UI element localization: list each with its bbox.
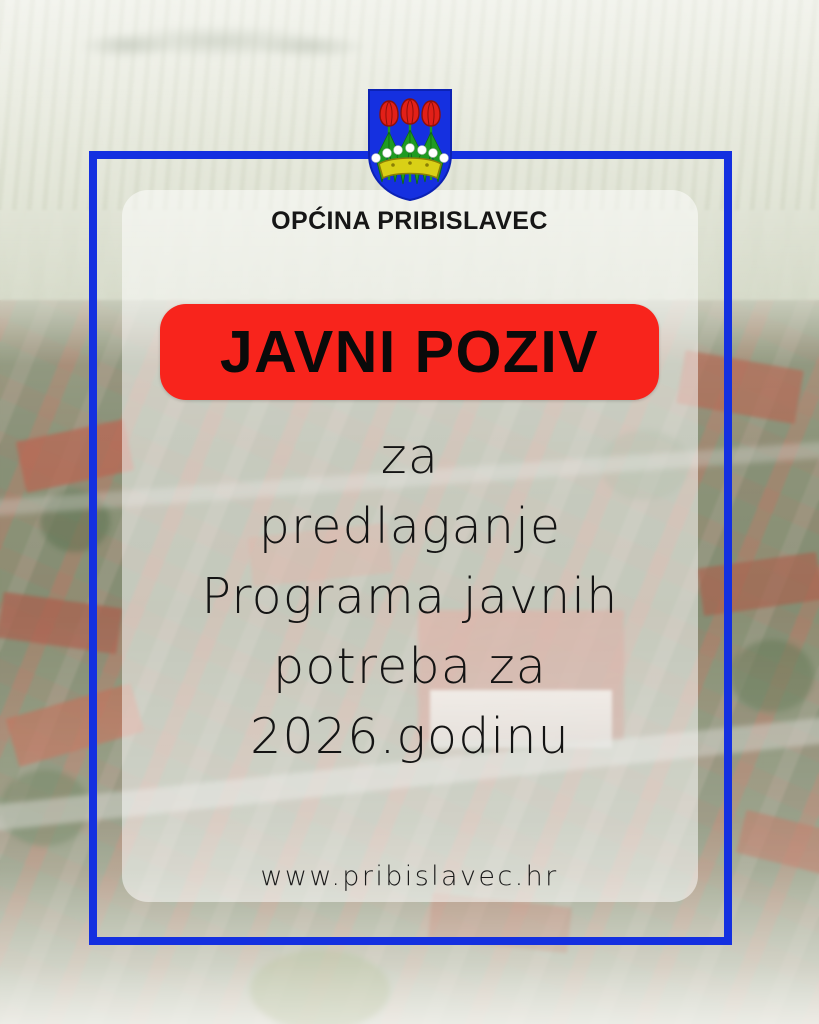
subtitle-line: potreba za — [130, 632, 690, 702]
subtitle-line: predlaganje — [130, 492, 690, 562]
announcement-poster: OPĆINA PRIBISLAVEC JAVNI POZIV za predla… — [0, 0, 819, 1024]
subtitle-line: 2026.godinu — [130, 702, 690, 772]
javni-poziv-badge: JAVNI POZIV — [160, 304, 659, 400]
website-url[interactable]: www.pribislavec.hr — [0, 861, 819, 892]
page-title: OPĆINA PRIBISLAVEC — [0, 207, 819, 236]
subtitle-block: za predlaganje Programa javnih potreba z… — [130, 422, 690, 772]
badge-label: JAVNI POZIV — [220, 323, 599, 382]
coat-of-arms-icon — [367, 88, 453, 202]
subtitle-line: za — [130, 422, 690, 492]
subtitle-line: Programa javnih — [130, 562, 690, 632]
